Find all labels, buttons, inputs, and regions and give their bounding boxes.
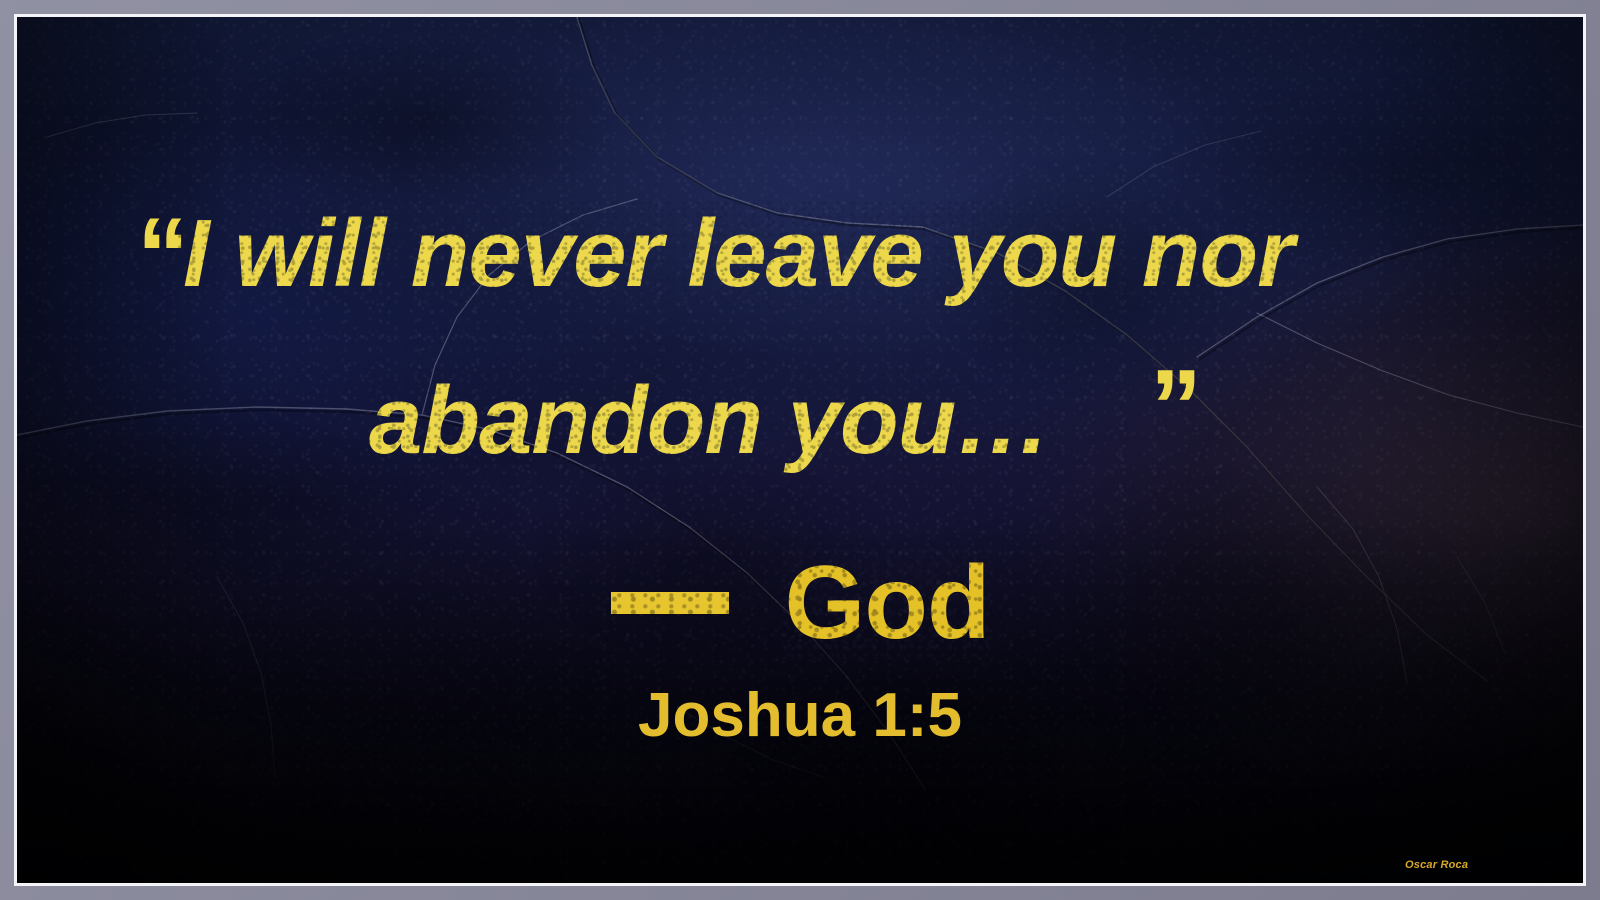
scripture-reference: Joshua 1:5 [17, 685, 1583, 747]
scripture-reference-text: Joshua 1:5 [638, 681, 962, 750]
quote-line-2: abandon you… [369, 373, 1050, 469]
quote-line-1: “I will never leave you nor [137, 203, 1293, 307]
closing-quotation-mark: ” [1150, 355, 1196, 459]
slide-inner-border: “I will never leave you nor abandon you…… [14, 14, 1586, 886]
attribution-row: God [17, 551, 1583, 655]
em-dash-rule [611, 592, 729, 614]
opening-quotation-mark: “ [137, 197, 183, 313]
slide-frame: “I will never leave you nor abandon you…… [0, 0, 1600, 900]
quote-line-2-text: abandon you… [369, 373, 1050, 469]
quote-text-layer: “I will never leave you nor abandon you…… [17, 17, 1583, 883]
artist-watermark: Oscar Roca [1405, 860, 1468, 871]
quote-line-1-text: I will never leave you nor [183, 206, 1293, 302]
attribution-name: God [785, 551, 990, 655]
